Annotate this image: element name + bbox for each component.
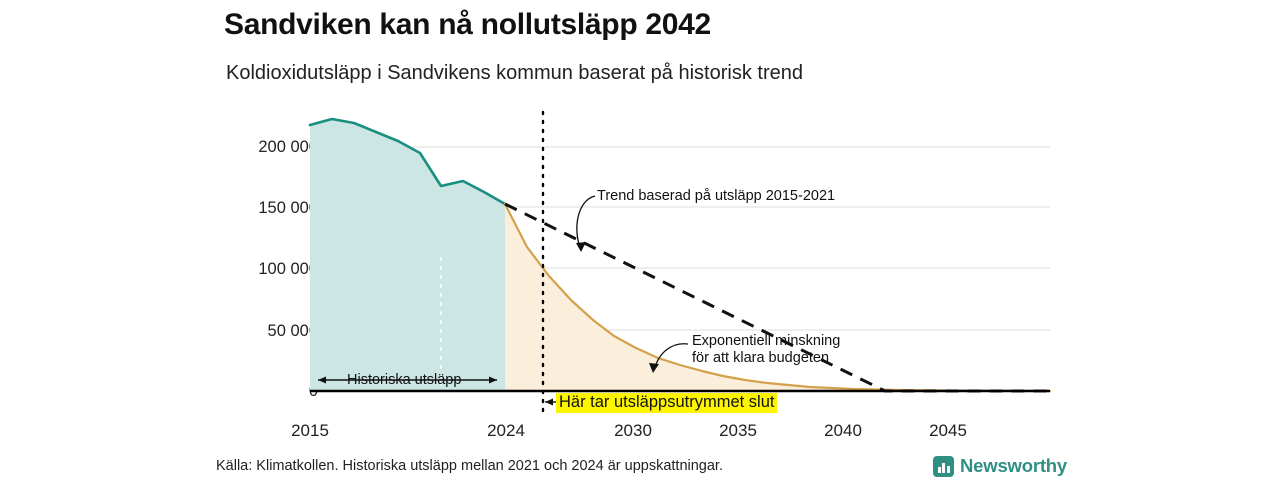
annotation-historical: Historiska utsläpp	[347, 372, 461, 389]
annotation-trend: Trend baserad på utsläpp 2015-2021	[597, 188, 835, 205]
newsworthy-logo-text: Newsworthy	[960, 455, 1067, 477]
historical-area	[310, 119, 505, 391]
newsworthy-logo: Newsworthy	[933, 455, 1067, 477]
annotation-exponential-line1: Exponentiell minskning	[692, 333, 840, 350]
annotation-exponential: Exponentiell minskning för att klara bud…	[692, 333, 840, 367]
bar-chart-icon	[933, 456, 954, 477]
source-note: Källa: Klimatkollen. Historiska utsläpp …	[216, 458, 723, 474]
annotation-budget-end: Här tar utsläppsutrymmet slut	[556, 393, 777, 413]
annotation-exponential-line2: för att klara budgeten	[692, 350, 840, 367]
chart-figure: Sandviken kan nå nollutsläpp 2042 Koldio…	[0, 0, 1280, 480]
